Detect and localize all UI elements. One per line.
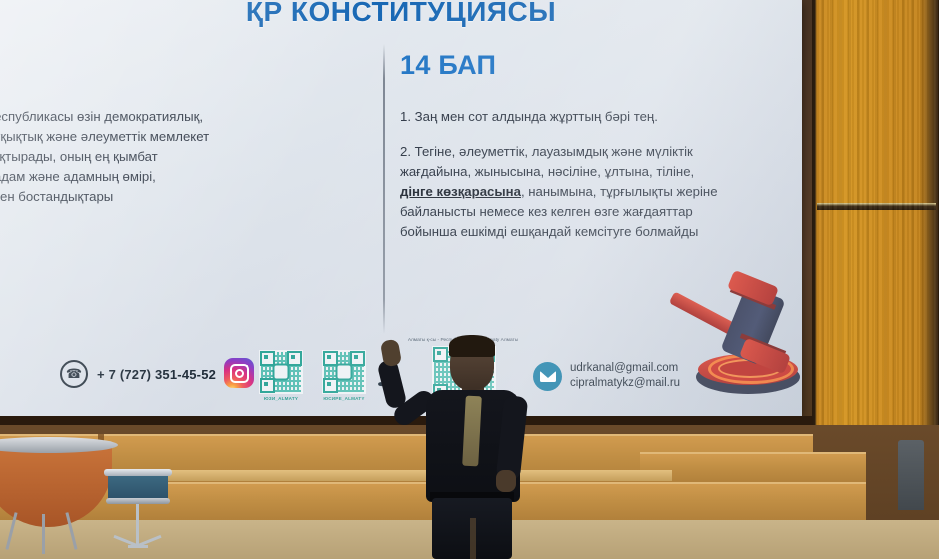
right-column-heading: 14 БАП (400, 50, 790, 81)
presenter-hair (449, 335, 495, 357)
snare-stand-leg-center (128, 545, 148, 548)
phone-icon: ☎ (60, 360, 88, 388)
right-paragraph-2-line-5: бойынша ешкімді ешқандай кемсітуге болма… (400, 222, 790, 242)
phone-number: + 7 (727) 351-45-52 (97, 367, 216, 382)
wood-wall-panel (812, 0, 939, 452)
email-primary: udrkanal@gmail.com (570, 361, 680, 376)
left-column-heading: БАП (0, 50, 352, 81)
qr-code-instagram-label: ЮЗИ_ALMATY (251, 396, 311, 401)
email-list: udrkanal@gmail.com cipralmatykz@mail.ru (570, 361, 680, 391)
stage-riser-right (640, 452, 866, 484)
right-paragraph-2-line-3-rest: , нанымына, тұрғылықты жеріне (521, 184, 718, 199)
qr-code-secondary-label: ЮСИРЕ_ALMATY (314, 396, 374, 401)
photo-scene: ҚР КОНСТИТУЦИЯСЫ БАП ақстан Республикасы… (0, 0, 939, 559)
presenter-hand-right (496, 470, 516, 492)
wood-grain-texture (812, 0, 939, 452)
right-paragraph-2-line-2: жағдайына, жынысына, нәсіліне, ұлтына, т… (400, 162, 790, 182)
right-paragraph-1: 1. Заң мен сот алдында жұрттың бәрі тең. (400, 107, 790, 127)
right-paragraph-2-line-4: байланысты немесе кез келген өзге жағдая… (400, 202, 790, 222)
right-paragraph-2-line-1: 2. Тегіне, әлеуметтік, лауазымдық және м… (400, 142, 790, 162)
presenter (404, 332, 554, 559)
right-paragraph-2-line-3: дінге көзқарасына, нанымына, тұрғылықты … (400, 182, 790, 202)
right-underlined-phrase: дінге көзқарасына (400, 184, 521, 199)
snare-stand (136, 504, 139, 546)
left-paragraph-line-3: нде орнықтырады, оның ең қымбат (0, 147, 352, 167)
instagram-icon (224, 358, 254, 388)
gavel-icon (684, 272, 814, 412)
left-paragraph-line-4: ынасы - адам және адамның өмірі, (0, 167, 352, 187)
presenter-leg-gap (470, 518, 476, 559)
timpani-leg-center (42, 514, 45, 554)
email-secondary: cipralmatykz@mail.ru (570, 376, 680, 391)
slide-right-column: 14 БАП 1. Заң мен сот алдында жұрттың бә… (400, 50, 790, 242)
qr-code-instagram (259, 350, 303, 394)
left-paragraph-line-5: ықтары мен бостандықтары (0, 187, 352, 207)
left-paragraph-line-1: ақстан Республикасы өзін демократиялық, (0, 107, 352, 127)
left-paragraph-line-2-rest: , құқықтық және әлеуметтік мемлекет (0, 129, 209, 144)
slide-title: ҚР КОНСТИТУЦИЯСЫ (0, 0, 802, 28)
left-paragraph-line-2: ырлы, құқықтық және әлеуметтік мемлекет (0, 127, 352, 147)
column-divider (383, 44, 385, 334)
snare-rim-top (104, 469, 172, 476)
qr-code-secondary (322, 350, 366, 394)
slide-left-column: БАП ақстан Республикасы өзін демократиял… (0, 50, 352, 207)
projection-screen: ҚР КОНСТИТУЦИЯСЫ БАП ақстан Республикасы… (0, 0, 802, 416)
side-equipment (898, 440, 924, 510)
phone-row: ☎ + 7 (727) 351-45-52 (60, 360, 216, 388)
snare-drum (108, 473, 168, 501)
